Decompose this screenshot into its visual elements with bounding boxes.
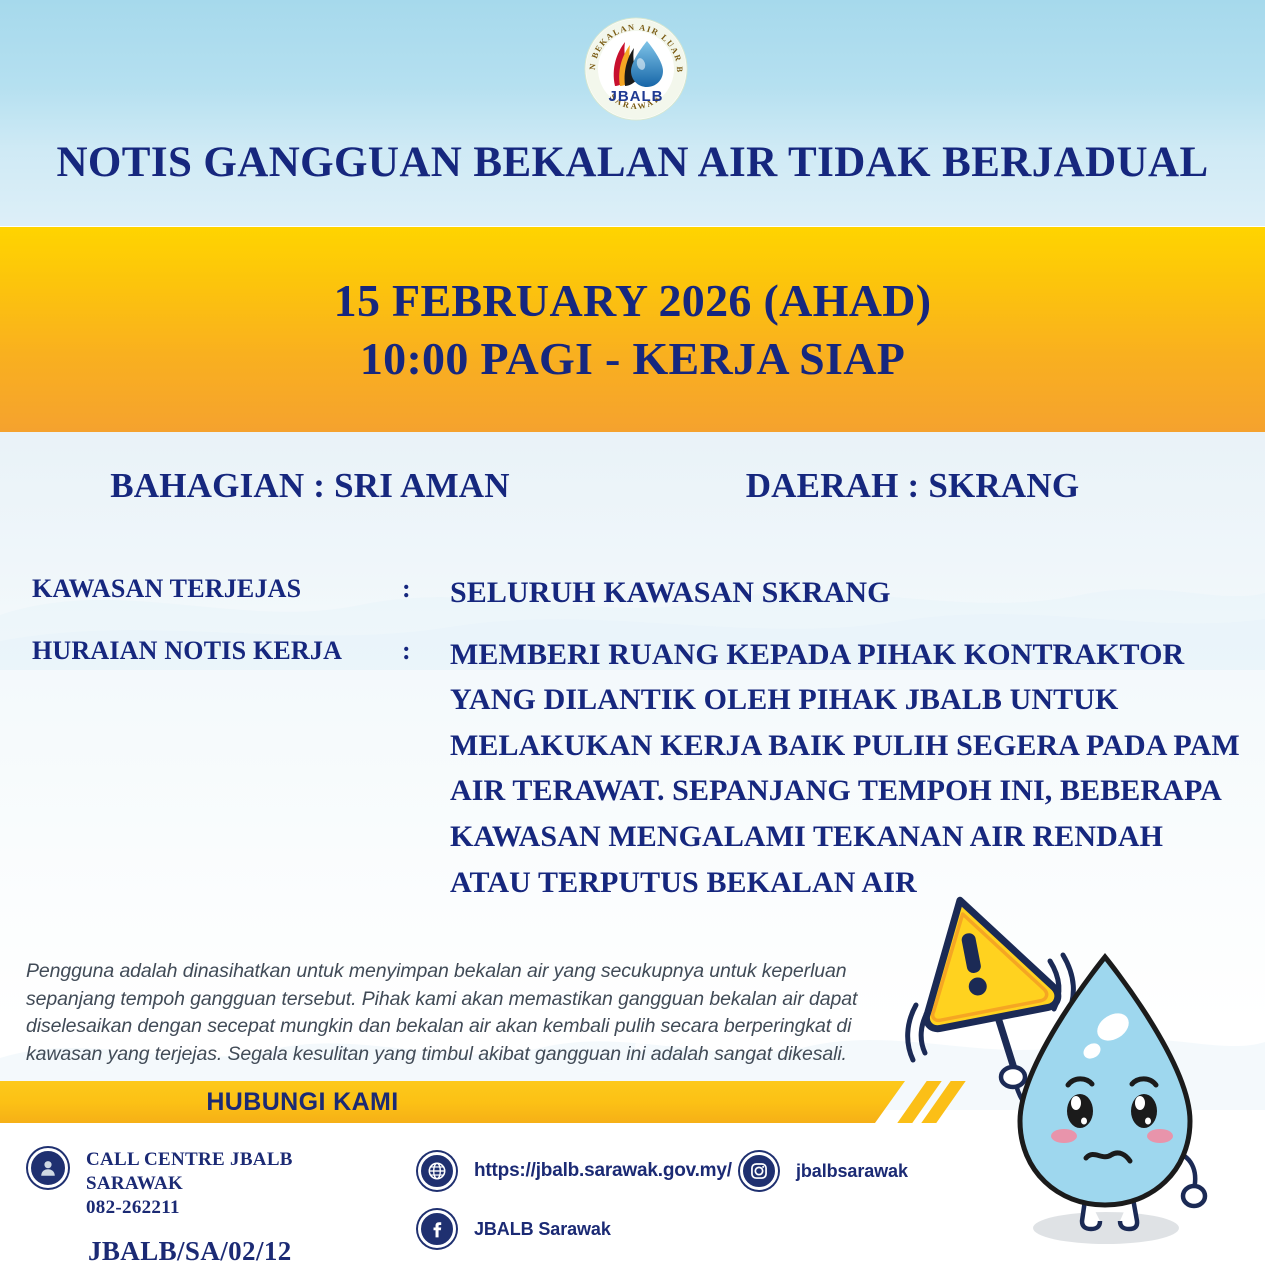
- person-icon-svg: [37, 1157, 59, 1179]
- jbalb-logo: JABATAN BEKALAN AIR LUAR BANDAR SARAWAK …: [583, 16, 689, 122]
- svg-text:JBALB: JBALB: [608, 88, 663, 105]
- website-url: https://jbalb.sarawak.gov.my/: [474, 1160, 732, 1182]
- disruption-time: 10:00 PAGI - KERJA SIAP: [360, 330, 905, 388]
- call-centre-text: CALL CENTRE JBALB SARAWAK 082-262211: [86, 1148, 293, 1219]
- instagram-icon: [740, 1152, 778, 1190]
- facebook-handle: JBALB Sarawak: [474, 1219, 611, 1240]
- work-description-label: HURAIAN NOTIS KERJA: [32, 632, 402, 670]
- contact-banner-title: HUBUNGI KAMI: [206, 1088, 698, 1117]
- facebook-icon-svg: [426, 1218, 448, 1240]
- region-row: BAHAGIAN : SRI AMAN DAERAH : SKRANG: [0, 466, 1265, 506]
- disruption-date: 15 FEBRUARY 2026 (AHAD): [334, 272, 932, 330]
- water-disruption-notice-poster: JABATAN BEKALAN AIR LUAR BANDAR SARAWAK …: [0, 0, 1265, 1275]
- contact-instagram[interactable]: jbalbsarawak: [740, 1152, 908, 1190]
- contact-facebook[interactable]: JBALB Sarawak: [418, 1210, 611, 1248]
- call-centre-line1: CALL CENTRE JBALB: [86, 1148, 293, 1172]
- globe-icon: [418, 1152, 456, 1190]
- page-title: NOTIS GANGGUAN BEKALAN AIR TIDAK BERJADU…: [0, 138, 1265, 187]
- affected-area-label: KAWASAN TERJEJAS: [32, 570, 402, 608]
- contact-call-centre[interactable]: CALL CENTRE JBALB SARAWAK 082-262211: [28, 1148, 293, 1219]
- division-label: BAHAGIAN : SRI AMAN: [0, 466, 620, 506]
- facebook-icon: [418, 1210, 456, 1248]
- contact-banner: HUBUNGI KAMI: [0, 1081, 905, 1123]
- row-spacer: [32, 616, 1247, 632]
- globe-icon-svg: [426, 1160, 448, 1182]
- affected-area-colon: :: [402, 570, 450, 608]
- affected-area-value: SELURUH KAWASAN SKRANG: [450, 570, 1247, 616]
- instagram-icon-svg: [748, 1160, 770, 1182]
- work-description-value: MEMBERI RUANG KEPADA PIHAK KONTRAKTOR YA…: [450, 632, 1247, 906]
- person-icon: [28, 1148, 68, 1188]
- call-centre-line2: SARAWAK: [86, 1172, 293, 1196]
- detail-table: KAWASAN TERJEJAS : SELURUH KAWASAN SKRAN…: [32, 570, 1247, 905]
- district-label: DAERAH : SKRANG: [620, 466, 1265, 506]
- jbalb-logo-svg: JABATAN BEKALAN AIR LUAR BANDAR SARAWAK …: [583, 16, 689, 122]
- work-description-colon: :: [402, 632, 450, 670]
- work-description-row: HURAIAN NOTIS KERJA : MEMBERI RUANG KEPA…: [32, 632, 1247, 906]
- affected-area-row: KAWASAN TERJEJAS : SELURUH KAWASAN SKRAN…: [32, 570, 1247, 616]
- contact-website[interactable]: https://jbalb.sarawak.gov.my/: [418, 1152, 732, 1190]
- instagram-handle: jbalbsarawak: [796, 1161, 908, 1182]
- call-centre-phone: 082-262211: [86, 1196, 293, 1220]
- date-banner: 15 FEBRUARY 2026 (AHAD) 10:00 PAGI - KER…: [0, 227, 1265, 432]
- reference-number: JBALB/SA/02/12: [88, 1236, 292, 1267]
- advisory-paragraph: Pengguna adalah dinasihatkan untuk menyi…: [26, 958, 896, 1069]
